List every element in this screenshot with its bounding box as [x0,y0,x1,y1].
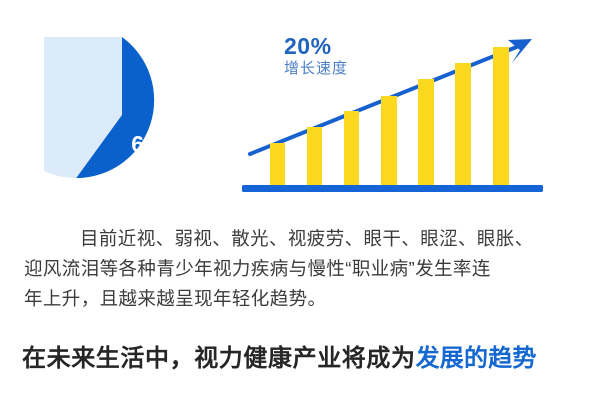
bar-1 [270,143,285,186]
bar-chart: 20% 增长速度 [236,20,556,205]
pie-chart-svg [44,37,200,193]
paragraph-line-3: 年上升，且越来越呈现年轻化趋势。 [24,284,580,314]
infographic-area: 60% 20% [0,0,600,212]
headline-prefix: 在未来生活中，视力健康产业将成为 [22,345,416,372]
paragraph-line-1: 目前近视、弱视、散光、视疲劳、眼干、眼涩、眼胀、 [24,224,580,254]
pie-chart: 60% [44,37,200,193]
bar-6 [455,63,471,186]
growth-percent-label: 20% [284,34,348,60]
growth-annotation: 20% 增长速度 [284,34,348,78]
headline-accent: 发展的趋势 [416,345,537,372]
growth-caption-label: 增长速度 [284,61,348,78]
poster-canvas: 60% 20% [0,0,600,400]
bar-3 [344,111,359,186]
bar-4 [381,96,397,186]
bar-5 [418,79,434,186]
headline: 在未来生活中，视力健康产业将成为发展的趋势 [22,343,588,375]
body-paragraph: 目前近视、弱视、散光、视疲劳、眼干、眼涩、眼胀、 迎风流泪等各种青少年视力疾病与… [24,224,580,314]
chart-baseline [242,185,543,192]
pie-value-label: 60% [120,133,190,156]
bar-2 [307,127,322,186]
paragraph-line-2: 迎风流泪等各种青少年视力疾病与慢性“职业病”发生率连 [24,254,580,284]
bar-7 [493,47,509,186]
